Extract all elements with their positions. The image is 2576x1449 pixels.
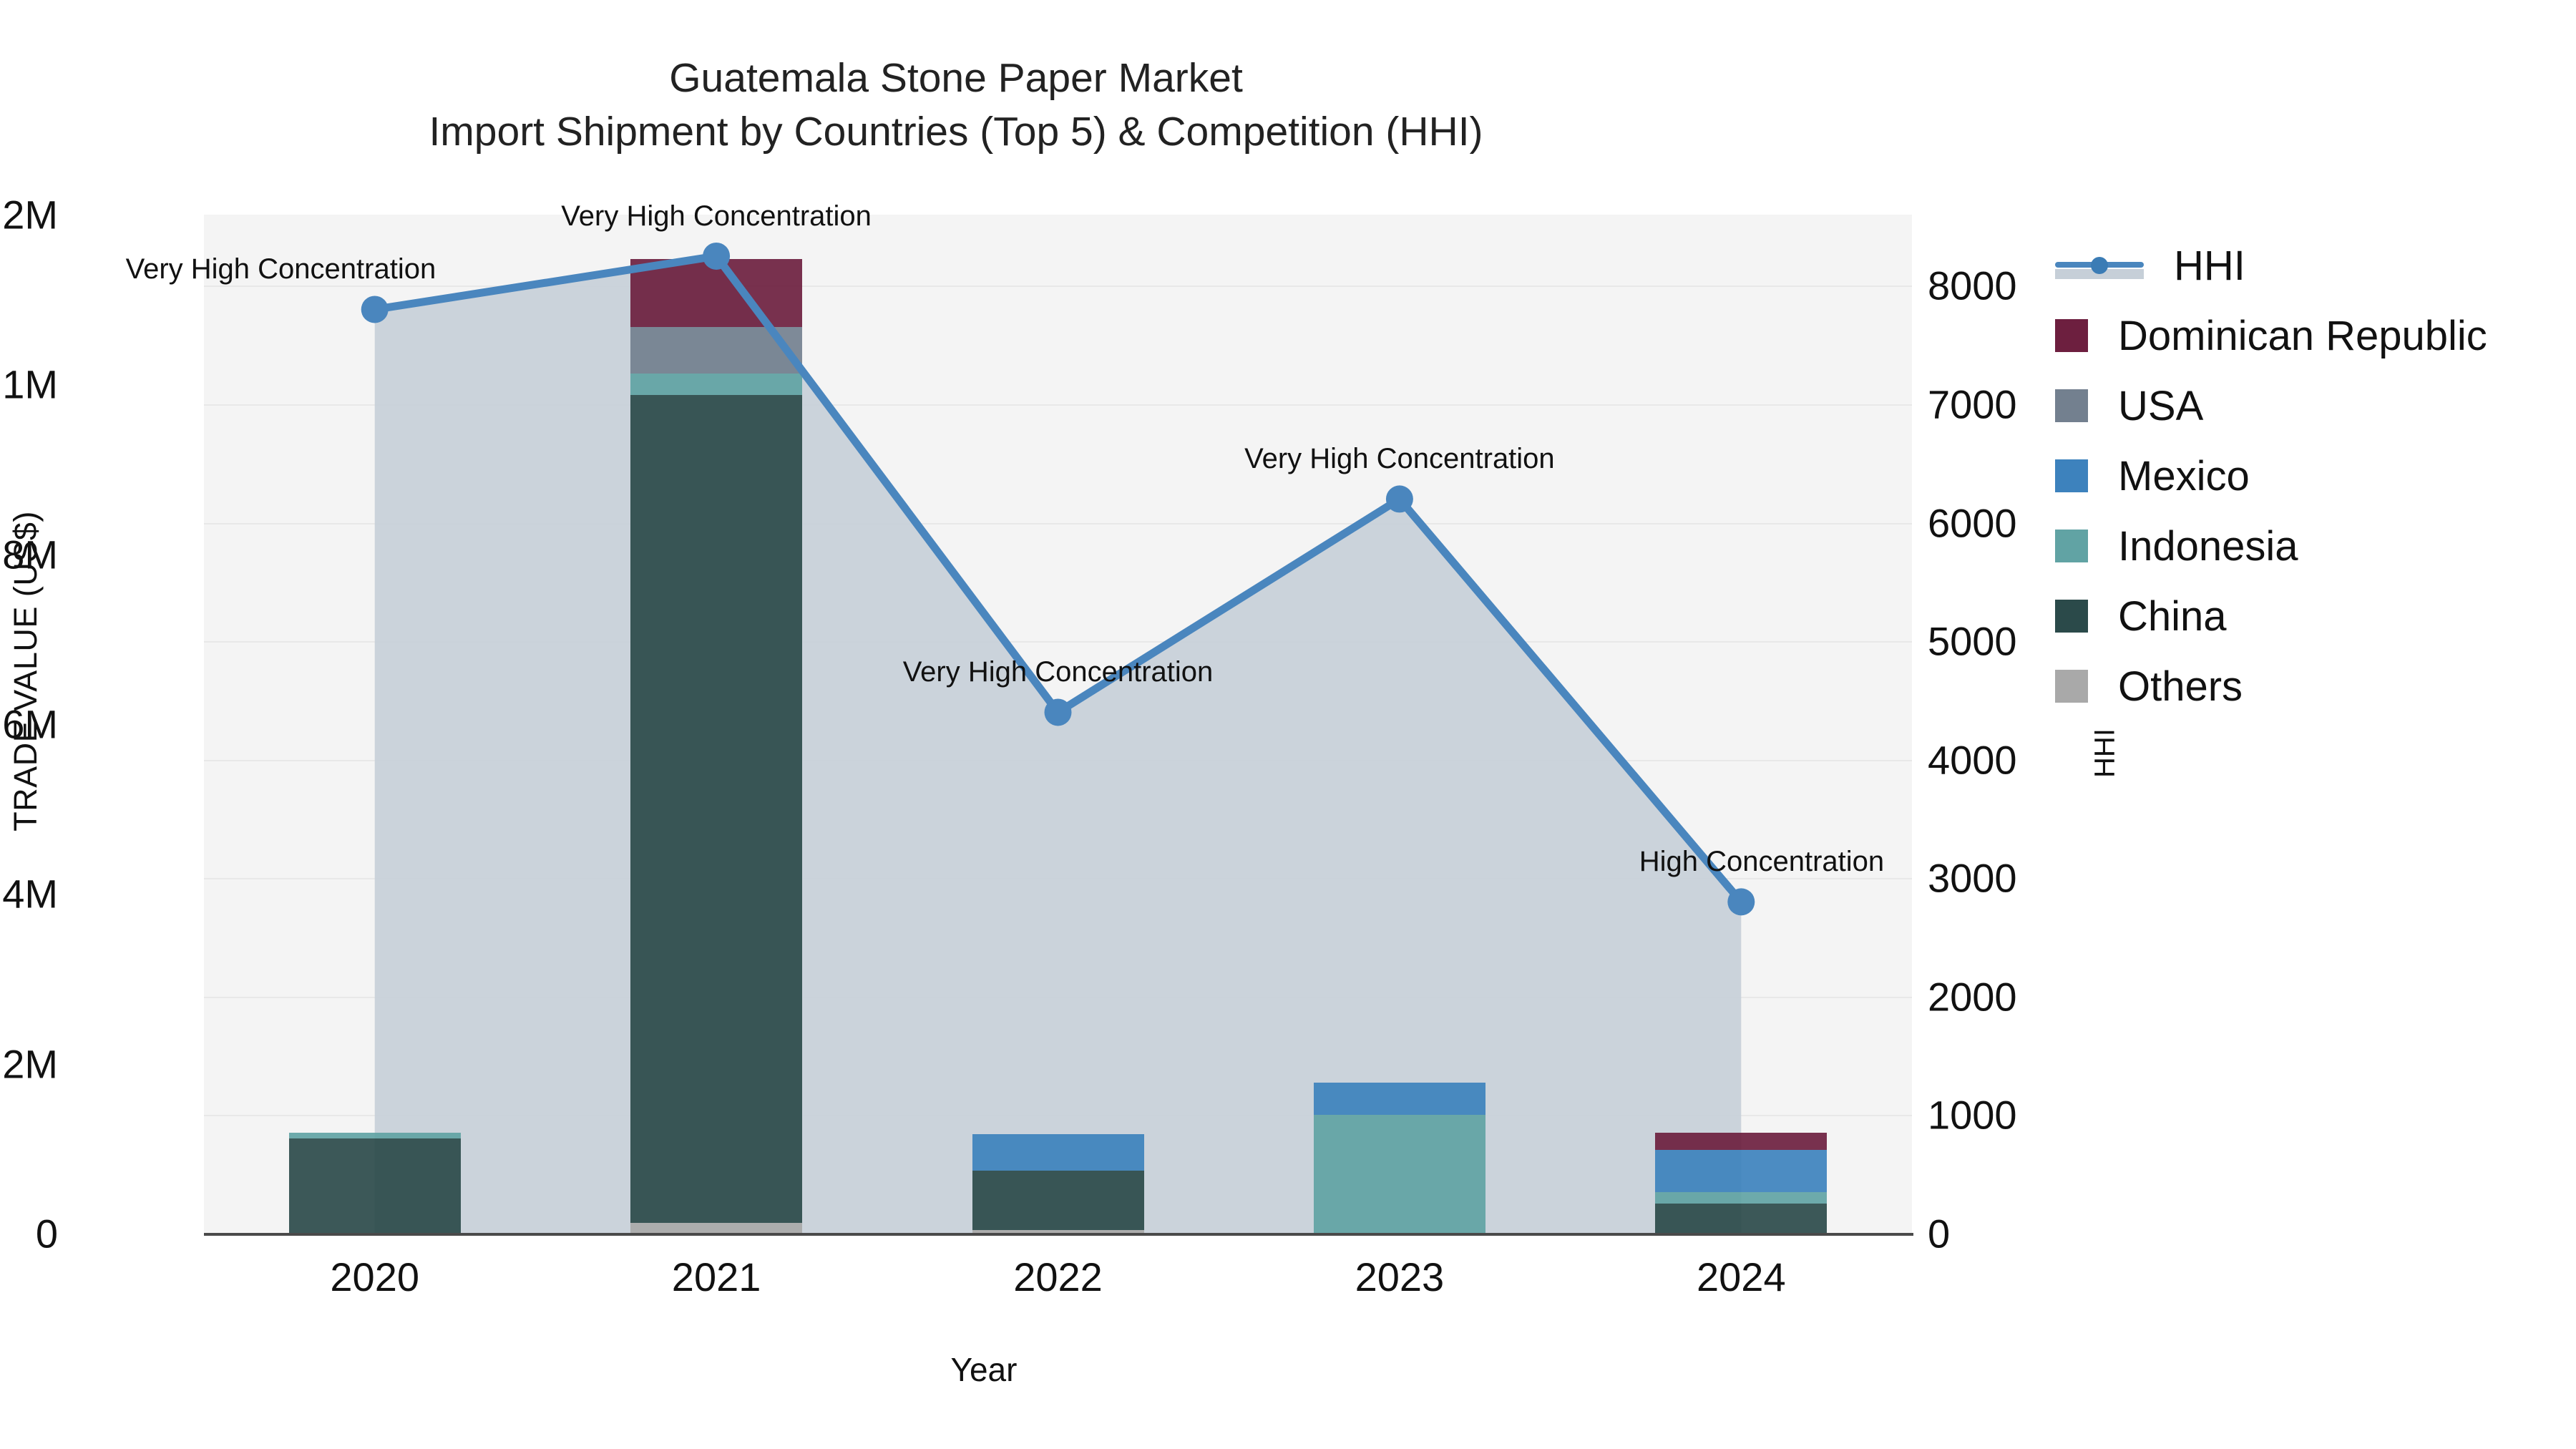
x-axis-tick-label: 2023 — [1355, 1254, 1445, 1300]
legend-item-usa[interactable]: USA — [2055, 371, 2487, 441]
x-axis-tick-label: 2024 — [1697, 1254, 1786, 1300]
legend-item-hhi[interactable]: HHI — [2055, 230, 2487, 301]
hhi-data-point[interactable] — [1045, 698, 1072, 726]
y-axis-left-tick-label: 1.2M — [0, 192, 58, 238]
hhi-line-series — [204, 215, 1912, 1234]
y-axis-right-tick-label: 3000 — [1928, 855, 2017, 902]
gridline — [204, 997, 1912, 998]
legend-swatch-icon — [2055, 530, 2088, 562]
legend-item-dominican-republic[interactable]: Dominican Republic — [2055, 301, 2487, 371]
y-axis-right-tick-label: 7000 — [1928, 381, 2017, 427]
y-axis-right-tick-label: 6000 — [1928, 499, 2017, 546]
bar-segment[interactable] — [630, 395, 802, 1223]
bar-segment[interactable] — [1655, 1133, 1827, 1150]
legend-item-label: Mexico — [2118, 452, 2250, 500]
legend-item-indonesia[interactable]: Indonesia — [2055, 511, 2487, 581]
bar-segment[interactable] — [1655, 1204, 1827, 1234]
x-axis-tick-label: 2021 — [672, 1254, 761, 1300]
gridline — [204, 1115, 1912, 1116]
y-axis-left-tick-label: 0 — [36, 1211, 58, 1257]
legend-swatch-icon — [2055, 600, 2088, 633]
x-axis-tick-label: 2022 — [1013, 1254, 1103, 1300]
legend-item-label: Indonesia — [2118, 522, 2298, 570]
concentration-annotation: High Concentration — [1639, 846, 1884, 878]
hhi-area-fill — [204, 215, 1912, 1234]
bar-segment[interactable] — [1655, 1150, 1827, 1192]
x-axis-label: Year — [841, 1350, 1127, 1389]
bar-segment[interactable] — [289, 1138, 461, 1234]
concentration-annotation: Very High Concentration — [1244, 443, 1555, 475]
chart-legend: HHIDominican RepublicUSAMexicoIndonesiaC… — [2055, 230, 2487, 721]
y-axis-right-tick-label: 4000 — [1928, 736, 2017, 783]
y-axis-left-tick-label: 1M — [2, 361, 58, 408]
hhi-polyline — [204, 215, 1912, 1234]
concentration-annotation: Very High Concentration — [126, 253, 436, 286]
gridline — [204, 523, 1912, 525]
legend-swatch-icon — [2055, 389, 2088, 422]
gridline — [204, 286, 1912, 287]
y-axis-right-tick-label: 2000 — [1928, 973, 2017, 1020]
chart-title-line-2: Import Shipment by Countries (Top 5) & C… — [0, 105, 1912, 159]
legend-item-label: USA — [2118, 382, 2203, 430]
bar-segment[interactable] — [630, 1223, 802, 1234]
y-axis-left-tick-label: 0.4M — [0, 871, 58, 917]
hhi-data-point[interactable] — [1386, 485, 1413, 512]
plot-area — [204, 215, 1912, 1234]
hhi-area-polygon — [204, 215, 1912, 1234]
y-axis-right-tick-label: 0 — [1928, 1211, 1950, 1257]
legend-item-label: HHI — [2174, 242, 2245, 290]
chart-title: Guatemala Stone Paper Market Import Ship… — [0, 52, 1912, 159]
legend-item-mexico[interactable]: Mexico — [2055, 441, 2487, 511]
legend-item-label: China — [2118, 592, 2227, 640]
concentration-annotation: Very High Concentration — [561, 200, 872, 233]
bar-segment[interactable] — [972, 1134, 1144, 1171]
legend-item-label: Dominican Republic — [2118, 312, 2487, 360]
bar-segment[interactable] — [289, 1133, 461, 1138]
legend-item-china[interactable]: China — [2055, 581, 2487, 651]
x-axis-baseline — [204, 1233, 1913, 1236]
bar-segment[interactable] — [1314, 1115, 1485, 1234]
hhi-data-point[interactable] — [1727, 888, 1755, 915]
y-axis-left-tick-label: 0.2M — [0, 1040, 58, 1087]
legend-swatch-icon — [2055, 459, 2088, 492]
gridline — [204, 641, 1912, 643]
chart-canvas: Guatemala Stone Paper Market Import Ship… — [0, 0, 2576, 1449]
bar-segment[interactable] — [1655, 1192, 1827, 1204]
bar-segment[interactable] — [630, 327, 802, 374]
gridline — [204, 878, 1912, 879]
bar-segment[interactable] — [972, 1171, 1144, 1230]
legend-line-marker-icon — [2055, 249, 2144, 282]
concentration-annotation: Very High Concentration — [903, 656, 1214, 688]
bar-segment[interactable] — [1314, 1083, 1485, 1115]
bar-segment[interactable] — [630, 259, 802, 327]
x-axis-tick-label: 2020 — [330, 1254, 419, 1300]
legend-swatch-icon — [2055, 319, 2088, 352]
y-axis-left-label: TRADE VALUE (US$) — [7, 492, 44, 850]
y-axis-right-tick-label: 1000 — [1928, 1092, 2017, 1138]
legend-item-others[interactable]: Others — [2055, 651, 2487, 721]
y-axis-right-tick-label: 8000 — [1928, 263, 2017, 309]
chart-title-line-1: Guatemala Stone Paper Market — [0, 52, 1912, 105]
legend-item-label: Others — [2118, 663, 2243, 711]
bar-segment[interactable] — [630, 374, 802, 395]
y-axis-right-tick-label: 5000 — [1928, 618, 2017, 665]
gridline — [204, 760, 1912, 761]
gridline — [204, 404, 1912, 406]
hhi-data-point[interactable] — [361, 296, 389, 323]
legend-swatch-icon — [2055, 670, 2088, 703]
